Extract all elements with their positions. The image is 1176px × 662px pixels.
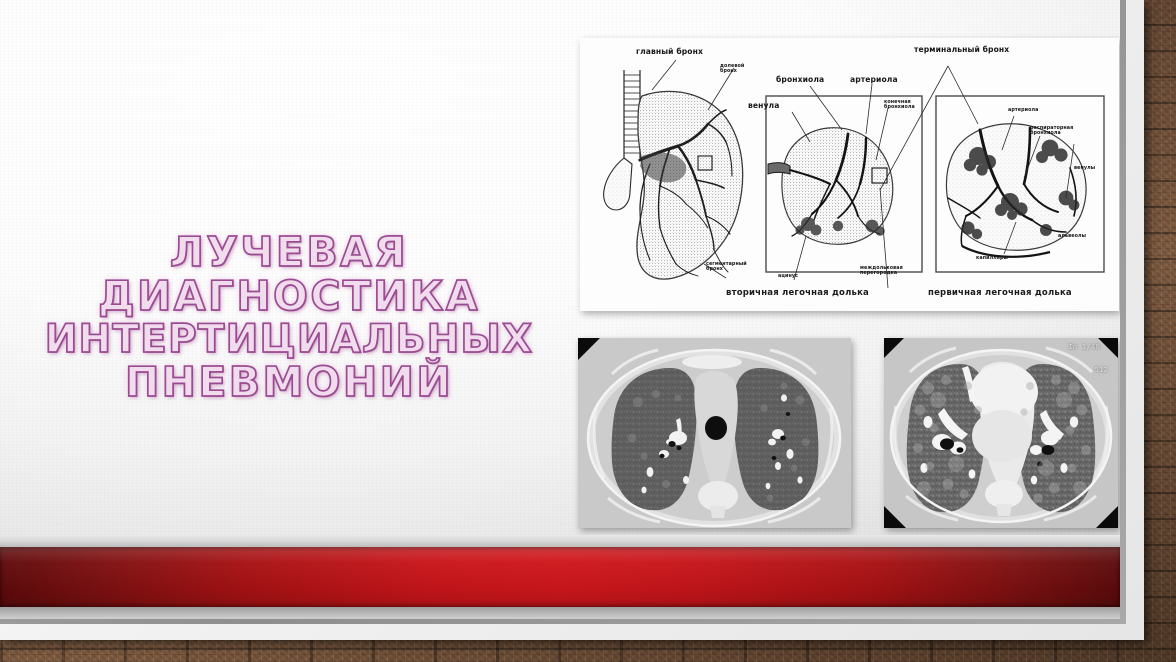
ct-upper-svg [578,338,851,528]
slide-root: ЛУЧЕВАЯ ДИАГНОСТИКА ИНТЕРТИЦИАЛЬНЫХ ПНЕВ… [0,0,1176,662]
title-line-1: ЛУЧЕВАЯ [0,232,578,273]
ct-overlay-image-number: Im 1/40 [1068,343,1100,351]
band-top-edge [0,535,1120,547]
anatomy-label-segmental-bronchus: сегментарный бронх [706,262,752,272]
anatomy-label-lobar-bronchus: долевой бронх [720,64,762,74]
ct-lower-svg [884,338,1118,528]
slide-canvas: ЛУЧЕВАЯ ДИАГНОСТИКА ИНТЕРТИЦИАЛЬНЫХ ПНЕВ… [0,0,1120,619]
anatomy-label-respiratory-bronchiole: респираторная бронхиола [1030,126,1078,136]
anatomy-label-alveoli: альвеолы [1058,234,1086,239]
anatomy-diagram-image: вторичная легочная долька первичная лего… [580,38,1119,311]
page-title: ЛУЧЕВАЯ ДИАГНОСТИКА ИНТЕРТИЦИАЛЬНЫХ ПНЕВ… [0,232,578,406]
anatomy-label-main-bronchus: главный бронх [636,48,703,56]
ct-overlay-matrix-size: 512 [1094,366,1108,374]
anatomy-label-interlobular-septum: междольковая перегородка [860,266,904,276]
ct-axial-chest-lower: Im 1/40 512 [884,338,1118,528]
band-bottom-edge [0,607,1120,619]
title-line-2: ДИАГНОСТИКА [0,276,578,317]
anatomy-label-venule: венула [748,102,779,110]
anatomy-diagram-canvas: вторичная легочная долька первичная лего… [580,38,1119,311]
lung-outline [637,91,743,279]
anatomy-label-venules: венулы [1074,166,1095,171]
anatomy-label-capillaries: капилляры [976,256,1008,261]
anatomy-label-arteriole-2: артериола [1008,108,1038,113]
red-bar-sheen [0,547,1120,607]
anatomy-label-bronchiole: бронхиола [776,76,824,84]
title-line-4: ПНЕВМОНИЙ [0,362,578,403]
anatomy-label-acinus: ацинус [778,274,798,279]
title-line-3: ИНТЕРТИЦИАЛЬНЫХ [0,320,578,359]
anatomy-caption-secondary-lobule: вторичная легочная долька [726,288,869,298]
bottom-accent-band [0,535,1120,619]
slide-outer-frame: ЛУЧЕВАЯ ДИАГНОСТИКА ИНТЕРТИЦИАЛЬНЫХ ПНЕВ… [0,0,1144,640]
ct-axial-chest-upper [578,338,851,528]
anatomy-label-terminal-bronchiole: конечная бронхиола [884,100,924,110]
anatomy-caption-primary-lobule: первичная легочная долька [928,288,1072,298]
anatomy-label-arteriole: артериола [850,76,898,84]
anatomy-label-terminal-bronchus: терминальный бронх [914,46,1009,54]
red-accent-bar [0,547,1120,607]
slide-frame-bevel: ЛУЧЕВАЯ ДИАГНОСТИКА ИНТЕРТИЦИАЛЬНЫХ ПНЕВ… [0,0,1126,624]
